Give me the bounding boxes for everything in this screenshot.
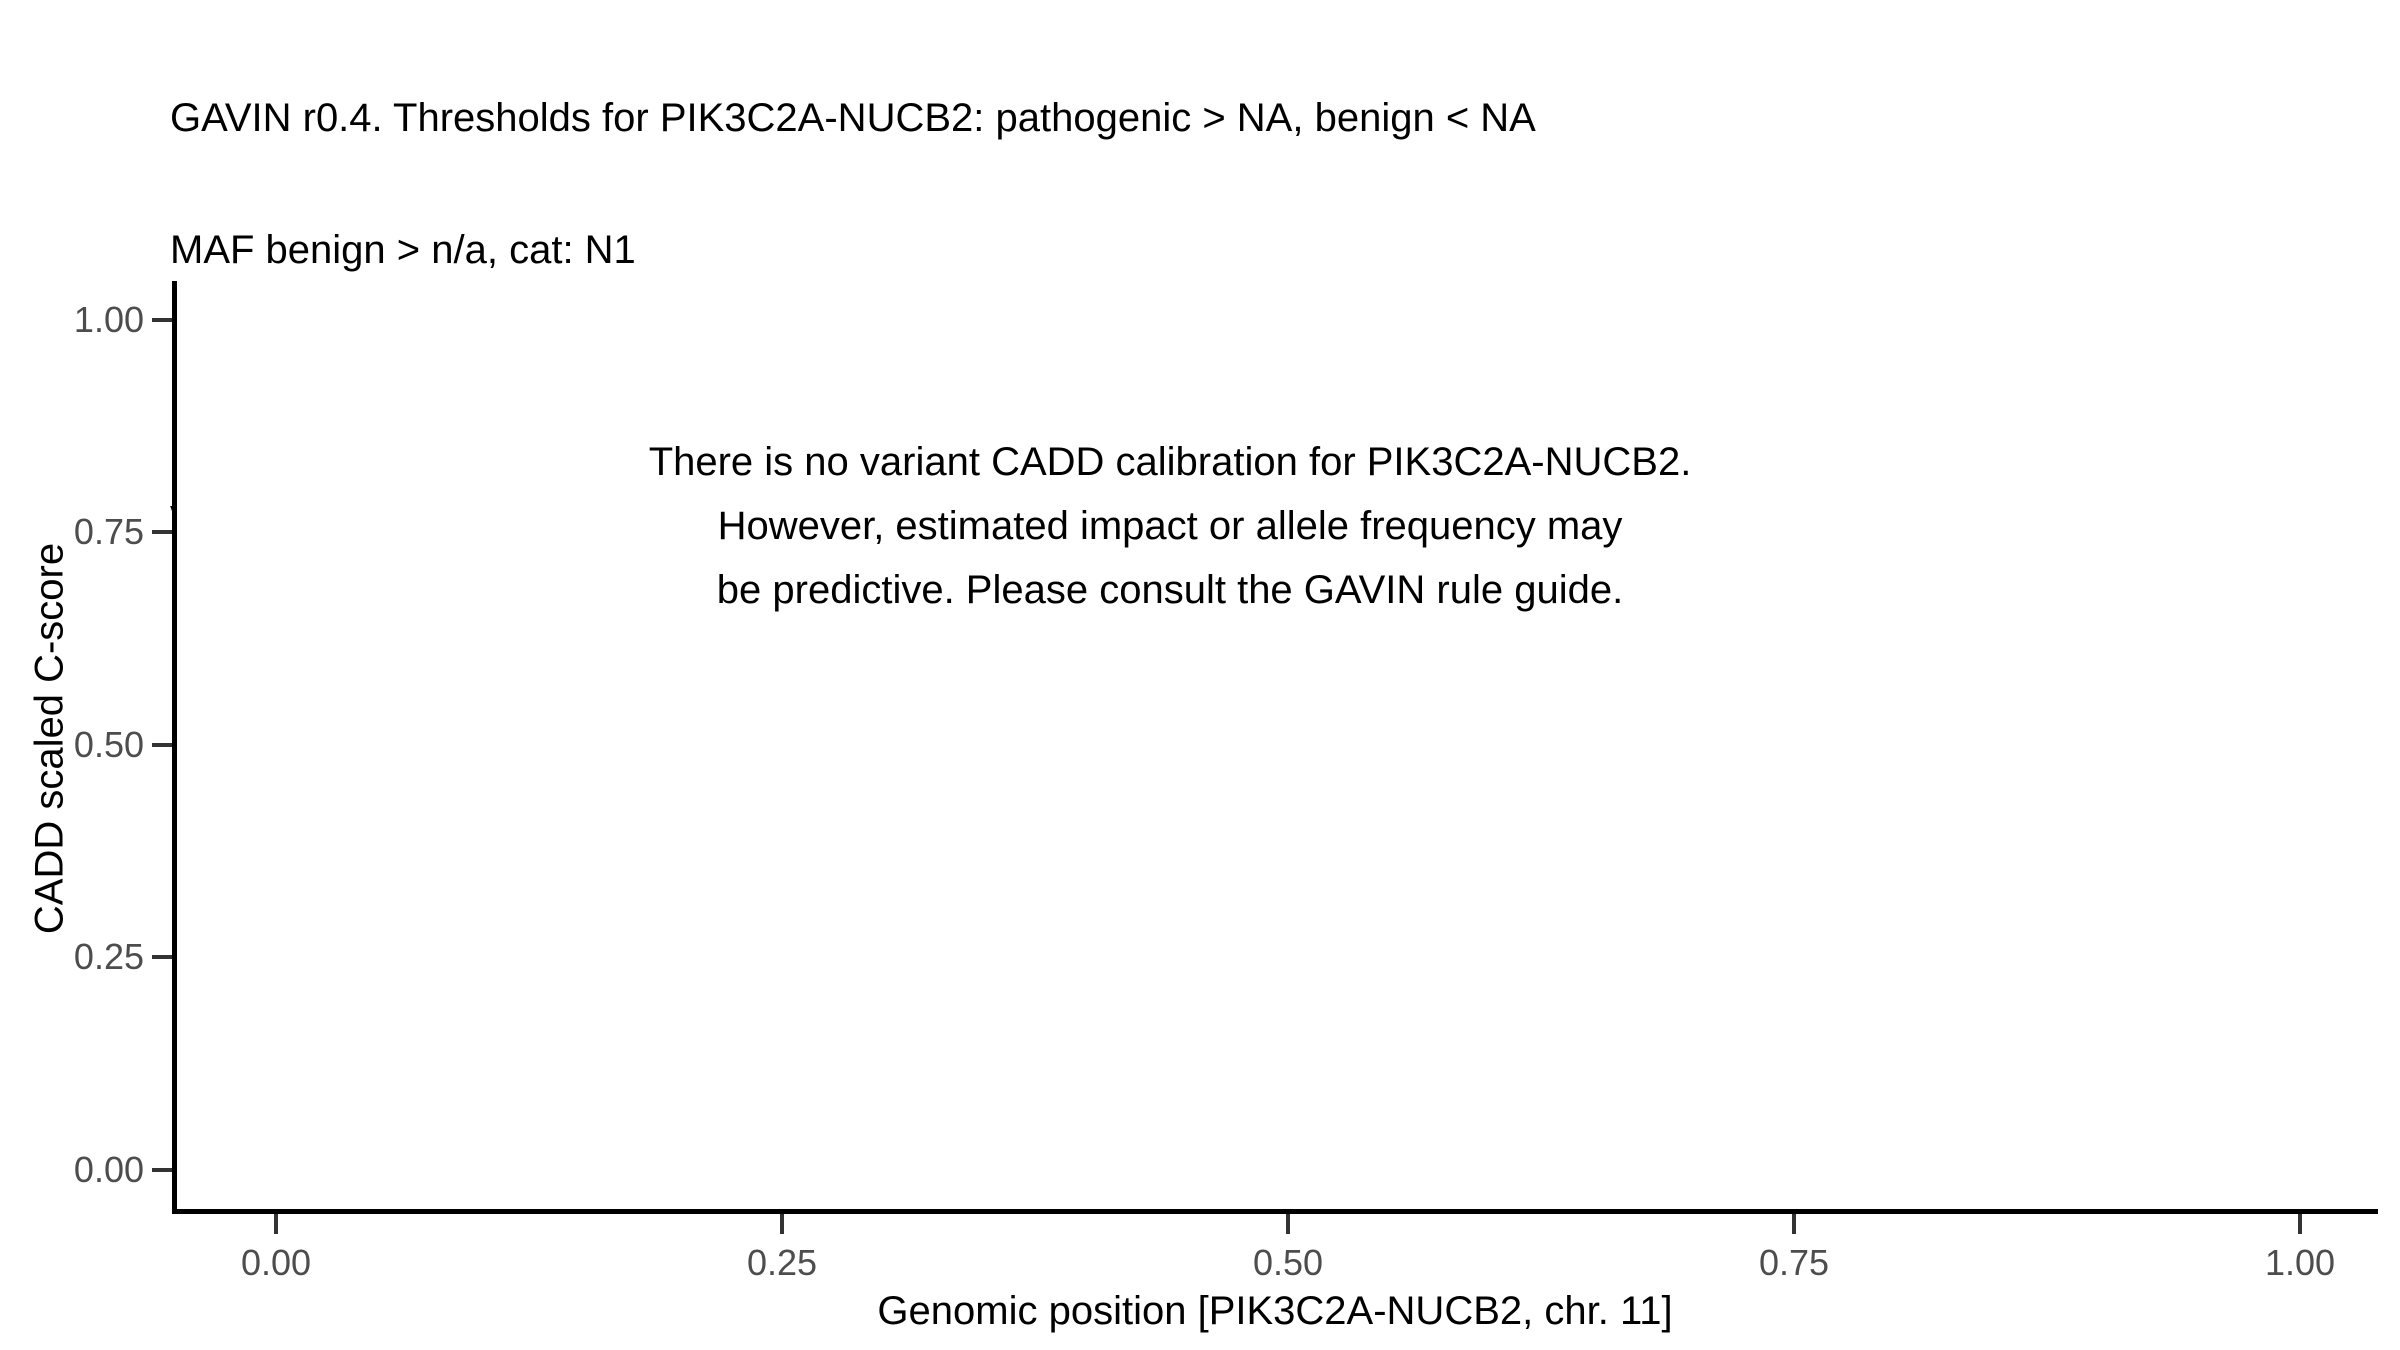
- y-axis-line: [172, 281, 177, 1214]
- chart-title-line-1: GAVIN r0.4. Thresholds for PIK3C2A-NUCB2…: [170, 96, 2370, 140]
- x-tick-label-3: 0.50: [1138, 1242, 1438, 1284]
- x-axis-line: [172, 1209, 2378, 1214]
- y-tick-mark-3: [152, 743, 172, 747]
- y-tick-label-1: 1.00: [0, 299, 144, 341]
- plot-annotation: There is no variant CADD calibration for…: [600, 430, 1740, 622]
- plot-annotation-line-2: However, estimated impact or allele freq…: [600, 494, 1740, 558]
- x-tick-mark-4: [1792, 1214, 1796, 1234]
- x-tick-mark-5: [2298, 1214, 2302, 1234]
- x-tick-label-4: 0.75: [1644, 1242, 1944, 1284]
- plot-annotation-line-1: There is no variant CADD calibration for…: [600, 430, 1740, 494]
- x-tick-mark-2: [780, 1214, 784, 1234]
- y-tick-mark-4: [152, 955, 172, 959]
- y-tick-mark-5: [152, 1168, 172, 1172]
- y-tick-mark-2: [152, 530, 172, 534]
- y-tick-mark-1: [152, 318, 172, 322]
- x-tick-label-1: 0.00: [126, 1242, 426, 1284]
- plot-annotation-line-3: be predictive. Please consult the GAVIN …: [600, 558, 1740, 622]
- y-tick-label-5: 0.00: [0, 1149, 144, 1191]
- chart-title-line-2: MAF benign > n/a, cat: N1: [170, 228, 2370, 272]
- x-tick-mark-1: [274, 1214, 278, 1234]
- x-tick-mark-3: [1286, 1214, 1290, 1234]
- chart-canvas: GAVIN r0.4. Thresholds for PIK3C2A-NUCB2…: [0, 0, 2400, 1350]
- plot-panel: [172, 281, 2378, 1211]
- x-axis-title: Genomic position [PIK3C2A-NUCB2, chr. 11…: [172, 1289, 2378, 1334]
- x-tick-label-5: 1.00: [2150, 1242, 2400, 1284]
- x-tick-label-2: 0.25: [632, 1242, 932, 1284]
- y-axis-title: CADD scaled C-score: [28, 489, 73, 989]
